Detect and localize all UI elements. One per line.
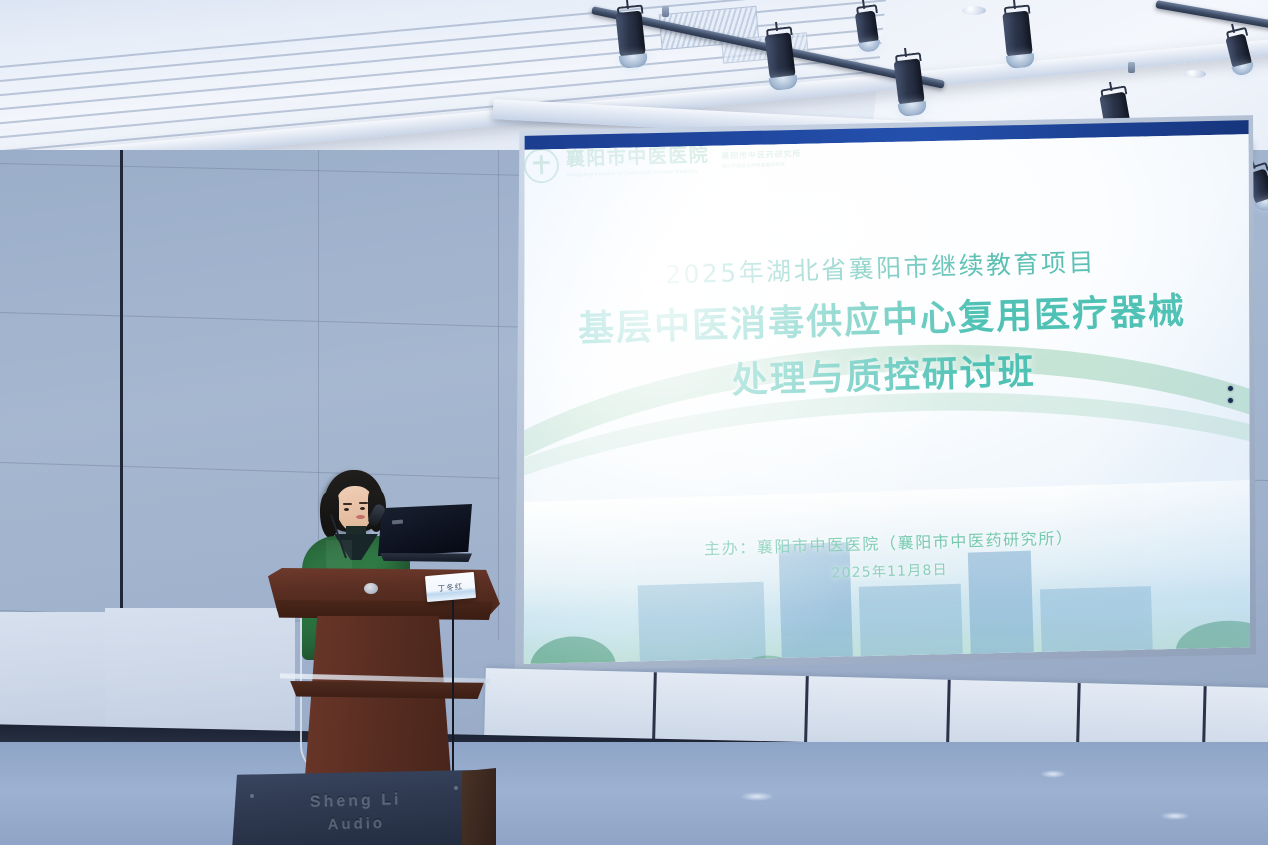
audio-speaker-cabinet: Sheng Li Audio (232, 770, 480, 845)
mouth (356, 515, 365, 519)
screen-mount-screw (1228, 386, 1233, 391)
screen-mount-screw (1228, 398, 1233, 403)
ceiling-fixture (1184, 70, 1206, 78)
cabinet-brand-text: Sheng Li Audio (231, 789, 480, 836)
sprinkler-icon (1128, 62, 1135, 73)
conference-hall-photo: 襄阳市中医医院 Xiangyang Hospital of Traditiona… (0, 0, 1268, 845)
podium-emblem (364, 583, 378, 594)
laptop-screen (378, 504, 472, 556)
wall-mullion (120, 66, 123, 666)
slide-content: 襄阳市中医医院 Xiangyang Hospital of Traditiona… (512, 114, 1256, 674)
hospital-emblem-icon (523, 147, 559, 183)
laptop-logo (392, 520, 403, 525)
cabinet-side-panel (462, 768, 496, 845)
sprinkler-icon (662, 6, 669, 17)
stage-floor (0, 742, 1268, 845)
slide-title-block: 2025年湖北省襄阳市继续教育项目 基层中医消毒供应中心复用医疗器械 处理与质控… (512, 237, 1256, 414)
ceiling-fixture (962, 6, 986, 15)
institute-line: 襄阳市中医药研究所 (721, 148, 801, 161)
hospital-name-cn: 襄阳市中医医院 (565, 146, 709, 169)
slide-canvas: 襄阳市中医医院 Xiangyang Hospital of Traditiona… (512, 114, 1256, 674)
affiliate-line: 湖北中医药大学附属襄阳医院 (721, 161, 801, 169)
projection-screen: 襄阳市中医医院 Xiangyang Hospital of Traditiona… (512, 114, 1256, 674)
cabinet-brand-line2: Audio (232, 812, 480, 836)
laptop-base (380, 553, 472, 562)
name-card: 丁冬红 (425, 572, 476, 602)
hospital-logo-sidetext: 襄阳市中医药研究所 湖北中医药大学附属襄阳医院 (721, 148, 802, 169)
name-card-text: 丁冬红 (437, 580, 463, 593)
laptop[interactable] (378, 504, 474, 566)
wall-panel-left (0, 612, 105, 740)
cabinet-brand-line1: Sheng Li (231, 789, 479, 814)
